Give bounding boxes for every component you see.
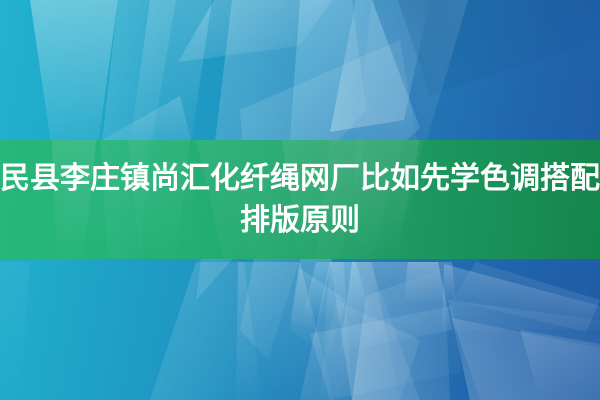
banner-image: 惠民县李庄镇尚汇化纤绳网厂比如先学色调搭配、 排版原则 [0,0,600,400]
headline-text: 惠民县李庄镇尚汇化纤绳网厂比如先学色调搭配、 排版原则 [0,140,600,259]
headline-line-2: 排版原则 [240,200,360,242]
headline-line-1: 惠民县李庄镇尚汇化纤绳网厂比如先学色调搭配、 [0,158,600,200]
